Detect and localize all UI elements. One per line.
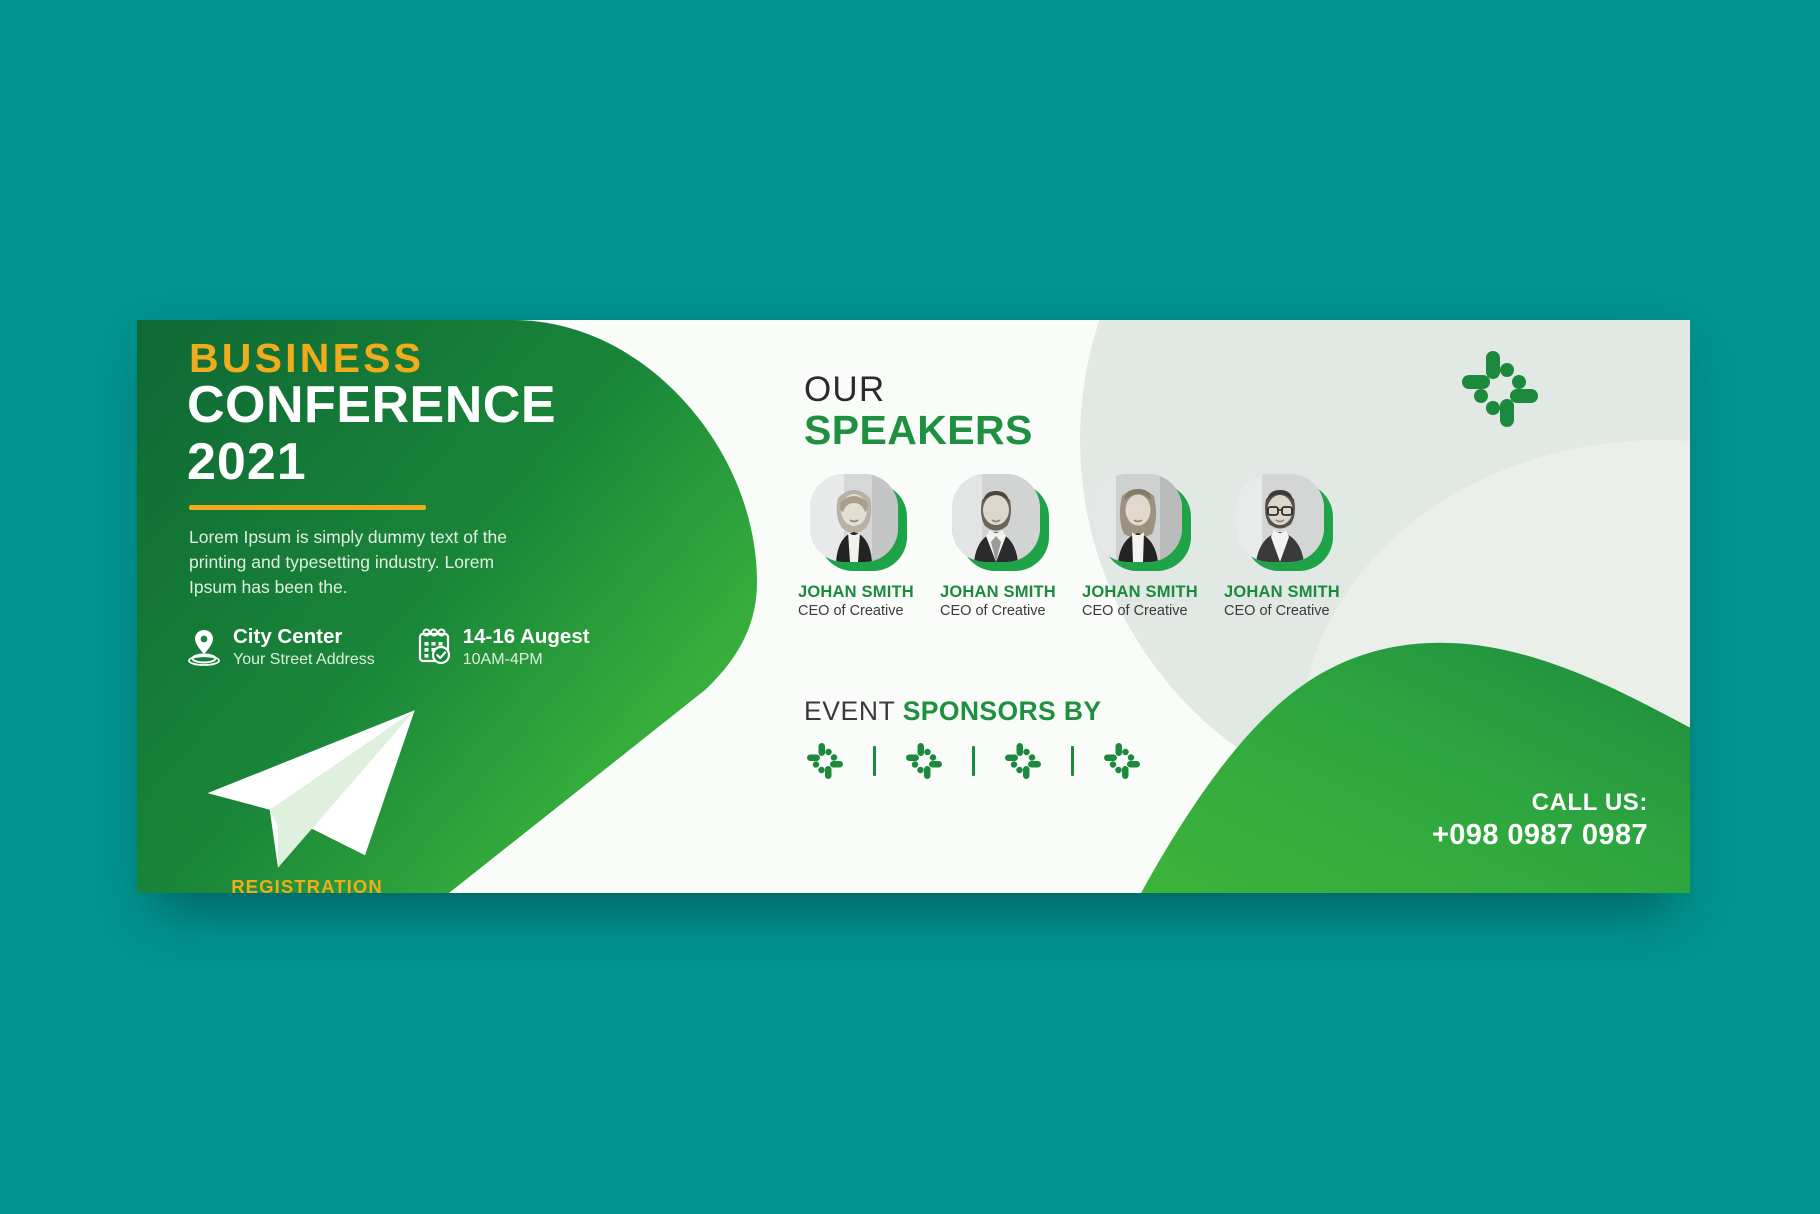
speaker-card[interactable]: JOHAN SMITH CEO of Creative — [940, 474, 1057, 619]
sponsors-section: EVENT SPONSORS BY — [804, 698, 1143, 782]
sponsor-pinwheel-icon[interactable] — [903, 740, 945, 782]
speaker-photo-2 — [952, 474, 1040, 562]
contact-block: CALL US: +098 0987 0987 — [1432, 788, 1648, 853]
sponsor-separator — [1071, 746, 1074, 776]
event-year: 2021 — [187, 435, 307, 490]
avatar — [952, 474, 1049, 571]
speaker-card[interactable]: JOHAN SMITH CEO of Creative — [1224, 474, 1341, 619]
sponsor-pinwheel-icon[interactable] — [1101, 740, 1143, 782]
speaker-name: JOHAN SMITH — [1224, 583, 1341, 602]
location-pin-icon — [187, 628, 221, 666]
speakers-heading-line1: OUR — [804, 372, 1033, 408]
speaker-role: CEO of Creative — [940, 603, 1057, 619]
speakers-heading-line2: SPEAKERS — [804, 408, 1033, 454]
venue-name: City Center — [233, 625, 342, 648]
speaker-photo-3 — [1094, 474, 1182, 562]
info-item-venue: City Center Your Street Address — [187, 625, 375, 670]
paper-plane-icon — [191, 702, 423, 876]
sponsors-heading-word2: SPONSORS BY — [903, 696, 1102, 726]
sponsor-pinwheel-icon[interactable] — [804, 740, 846, 782]
sponsor-pinwheel-icon[interactable] — [1002, 740, 1044, 782]
info-text-venue: City Center Your Street Address — [233, 625, 375, 670]
speaker-role: CEO of Creative — [798, 603, 915, 619]
left-panel-content: BUSINESS CONFERENCE 2021 Lorem Ipsum is … — [165, 320, 635, 893]
avatar — [1094, 474, 1191, 571]
speaker-card[interactable]: JOHAN SMITH CEO of Creative — [798, 474, 915, 619]
sponsor-separator — [972, 746, 975, 776]
sponsors-heading: EVENT SPONSORS BY — [804, 698, 1143, 725]
banner-canvas: BUSINESS CONFERENCE 2021 Lorem Ipsum is … — [137, 320, 1690, 893]
event-description: Lorem Ipsum is simply dummy text of the … — [189, 525, 534, 600]
event-hours: 10AM-4PM — [463, 650, 590, 670]
call-us-number[interactable]: +098 0987 0987 — [1432, 818, 1648, 853]
registration-label: REGISTRATION — [191, 876, 423, 893]
venue-address: Your Street Address — [233, 650, 375, 670]
speaker-name: JOHAN SMITH — [940, 583, 1057, 602]
event-dates: 14-16 Augest — [463, 625, 590, 648]
conference-banner: BUSINESS CONFERENCE 2021 Lorem Ipsum is … — [137, 320, 1690, 893]
event-title: CONFERENCE — [187, 378, 556, 433]
info-text-date: 14-16 Augest 10AM-4PM — [463, 625, 590, 670]
speaker-role: CEO of Creative — [1224, 603, 1341, 619]
registration-block: REGISTRATION www.yourshop.com — [191, 702, 423, 893]
avatar — [810, 474, 907, 571]
sponsor-separator — [873, 746, 876, 776]
calendar-check-icon — [417, 628, 451, 666]
speaker-photo-1 — [810, 474, 898, 562]
speakers-list: JOHAN SMITH CEO of Creative — [798, 474, 1341, 619]
speakers-heading: OUR SPEAKERS — [804, 372, 1033, 454]
avatar — [1236, 474, 1333, 571]
sponsors-heading-word1: EVENT — [804, 696, 895, 726]
speaker-name: JOHAN SMITH — [798, 583, 915, 602]
info-item-date: 14-16 Augest 10AM-4PM — [417, 625, 590, 670]
call-us-label: CALL US: — [1432, 788, 1648, 818]
speaker-role: CEO of Creative — [1082, 603, 1199, 619]
title-underline-rule — [189, 505, 426, 510]
event-kicker: BUSINESS — [189, 338, 424, 379]
speaker-name: JOHAN SMITH — [1082, 583, 1199, 602]
speaker-card[interactable]: JOHAN SMITH CEO of Creative — [1082, 474, 1199, 619]
speaker-photo-4 — [1236, 474, 1324, 562]
pinwheel-logo-icon — [1456, 345, 1544, 433]
event-info-row: City Center Your Street Address — [187, 625, 590, 670]
sponsor-logo-row — [804, 740, 1143, 782]
